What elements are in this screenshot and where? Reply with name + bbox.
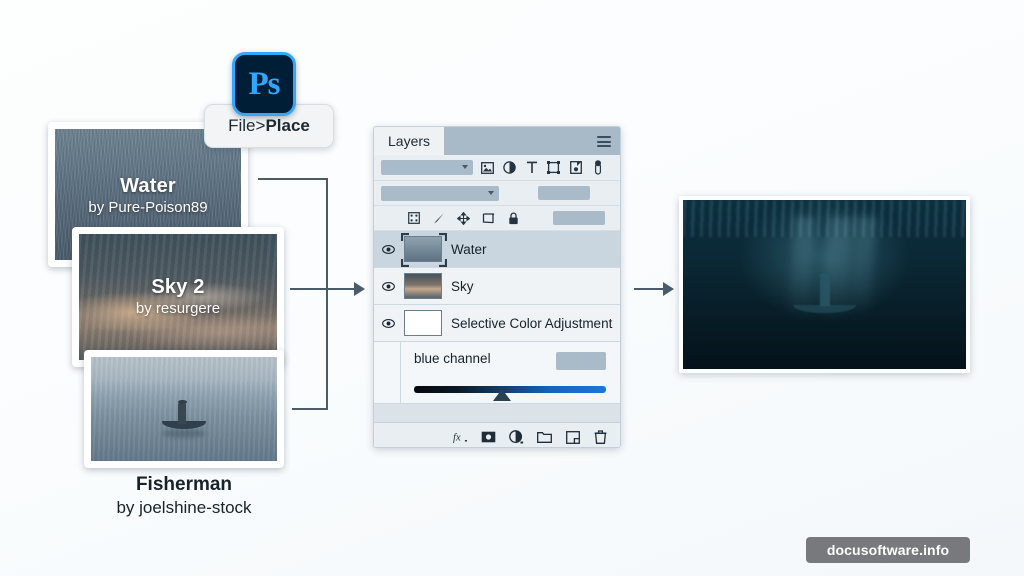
- watermark-badge: docusoftware.info: [806, 537, 970, 563]
- arrow-into-result-icon: [663, 282, 674, 296]
- layer-thumbnail-water[interactable]: [404, 236, 442, 262]
- photoshop-app-icon: Ps: [232, 52, 296, 116]
- dot-icon[interactable]: [590, 160, 605, 175]
- menu-path-separator: >: [256, 116, 266, 136]
- text-t-icon[interactable]: [524, 160, 539, 175]
- move-icon[interactable]: [456, 211, 471, 226]
- diagram-canvas: Water by Pure-Poison89 Sky 2 by resurger…: [0, 0, 1024, 576]
- source-title-water: Water: [55, 175, 241, 199]
- menu-path-command: Place: [265, 116, 309, 136]
- eye-icon[interactable]: [382, 280, 395, 293]
- adjustment-value-box[interactable]: [556, 352, 606, 370]
- panel-bottom-toolbar: fx: [374, 423, 620, 448]
- layers-panel: Layers: [373, 126, 621, 448]
- source-card-fisherman[interactable]: [84, 350, 284, 468]
- new-group-icon[interactable]: [537, 430, 552, 445]
- eye-icon[interactable]: [382, 243, 395, 256]
- connector-merge-stem: [326, 288, 354, 290]
- source-caption-sky: Sky 2 by resurgere: [79, 276, 277, 317]
- source-caption-water: Water by Pure-Poison89: [55, 175, 241, 216]
- layer-row-selective-color[interactable]: Selective Color Adjustment: [374, 305, 620, 342]
- adjustment-circle-icon[interactable]: [502, 160, 517, 175]
- lock-icon[interactable]: [506, 211, 521, 226]
- adjustment-layer-icon[interactable]: [509, 430, 524, 445]
- artboard-icon[interactable]: [481, 211, 496, 226]
- lock-row: [374, 206, 620, 231]
- fisherman-photo: [91, 357, 277, 461]
- shape-frame-icon[interactable]: [546, 160, 561, 175]
- connector-fisherman-horizontal: [292, 408, 328, 410]
- tab-layers[interactable]: Layers: [374, 127, 444, 155]
- source-image-sky: Sky 2 by resurgere: [79, 234, 277, 360]
- arrow-into-panel-icon: [354, 282, 365, 296]
- source-card-sky[interactable]: Sky 2 by resurgere: [72, 227, 284, 367]
- source-caption-fisherman: Fisherman by joelshine-stock: [60, 474, 308, 518]
- connector-sky-horizontal: [290, 288, 328, 290]
- layer-name-water: Water: [451, 242, 487, 257]
- layer-row-sky[interactable]: Sky: [374, 268, 620, 305]
- layer-name-selective-color: Selective Color Adjustment: [451, 316, 612, 331]
- layer-thumbnail-selective-color[interactable]: [404, 310, 442, 336]
- layer-row-water[interactable]: Water: [374, 231, 620, 268]
- eye-icon[interactable]: [382, 317, 395, 330]
- result-composite-image: [683, 200, 966, 369]
- layer-mask-icon[interactable]: [481, 430, 496, 445]
- svg-text:fx: fx: [453, 433, 461, 444]
- blend-mode-select[interactable]: [381, 186, 499, 201]
- panel-tab-bar: Layers: [374, 127, 620, 155]
- adjustment-properties: blue channel: [374, 342, 620, 404]
- fill-value-box[interactable]: [553, 211, 605, 225]
- hamburger-icon[interactable]: [597, 136, 611, 147]
- brush-icon[interactable]: [431, 211, 446, 226]
- source-credit-fisherman: by joelshine-stock: [60, 498, 308, 518]
- transparency-grid-icon[interactable]: [406, 211, 421, 226]
- panel-empty-area: [374, 404, 620, 423]
- filter-kind-select[interactable]: [381, 160, 473, 175]
- result-fisherman-body: [820, 278, 830, 307]
- layer-name-sky: Sky: [451, 279, 474, 294]
- boat-reflection: [162, 429, 207, 438]
- watermark-text: docusoftware.info: [827, 542, 949, 558]
- connector-water-horizontal: [258, 178, 328, 180]
- result-card[interactable]: [679, 196, 970, 373]
- layer-thumbnail-sky[interactable]: [404, 273, 442, 299]
- connector-vertical-spine: [326, 178, 328, 410]
- delete-layer-icon[interactable]: [593, 430, 608, 445]
- fisherman-body: [178, 403, 185, 424]
- adjustment-divider: [400, 342, 401, 403]
- photoshop-icon-label: Ps: [249, 66, 280, 103]
- source-title-fisherman: Fisherman: [60, 474, 308, 496]
- menu-path-prefix: File: [228, 116, 255, 136]
- source-image-fisherman: [91, 357, 277, 461]
- source-credit-water: by Pure-Poison89: [55, 199, 241, 217]
- layer-filter-toolbar: [374, 155, 620, 181]
- source-credit-sky: by resurgere: [79, 300, 277, 318]
- blend-mode-row: [374, 181, 620, 206]
- connector-panel-to-result: [634, 288, 664, 290]
- fx-icon[interactable]: fx: [453, 430, 468, 445]
- opacity-value-box[interactable]: [538, 186, 590, 200]
- blue-channel-slider-knob[interactable]: [493, 389, 511, 401]
- water-surface-band: [683, 200, 966, 237]
- new-layer-icon[interactable]: [565, 430, 580, 445]
- image-icon[interactable]: [480, 160, 495, 175]
- smart-object-icon[interactable]: [568, 160, 583, 175]
- source-title-sky: Sky 2: [79, 276, 277, 300]
